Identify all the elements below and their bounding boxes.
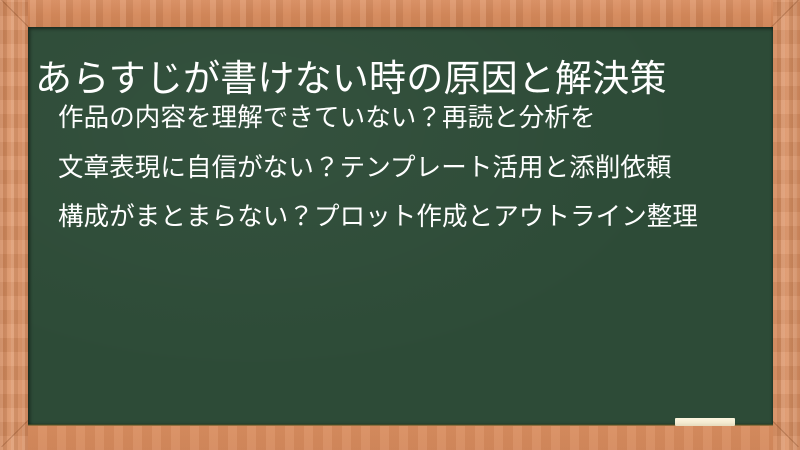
- frame-bottom-rail: [0, 426, 800, 450]
- list-item: 作品の内容を理解できていない？再読と分析を: [58, 100, 758, 137]
- chalkboard-surface: あらすじが書けない時の原因と解決策 作品の内容を理解できていない？再読と分析を …: [28, 27, 773, 425]
- chalkboard-content: あらすじが書けない時の原因と解決策 作品の内容を理解できていない？再読と分析を …: [28, 27, 773, 425]
- frame-right-stile: [773, 0, 800, 450]
- list-item: 文章表現に自信がない？テンプレート活用と添削依頼: [58, 150, 758, 187]
- frame-top-rail: [0, 0, 800, 27]
- solution-list: 作品の内容を理解できていない？再読と分析を 文章表現に自信がない？テンプレート活…: [58, 100, 758, 249]
- board-ledge-shadow: [28, 424, 773, 426]
- chalk-stick: [675, 418, 735, 426]
- chalkboard-slide: あらすじが書けない時の原因と解決策 作品の内容を理解できていない？再読と分析を …: [0, 0, 800, 450]
- page-title: あらすじが書けない時の原因と解決策: [35, 56, 765, 101]
- frame-left-stile: [0, 0, 28, 450]
- list-item: 構成がまとまらない？プロット作成とアウトライン整理: [58, 199, 758, 236]
